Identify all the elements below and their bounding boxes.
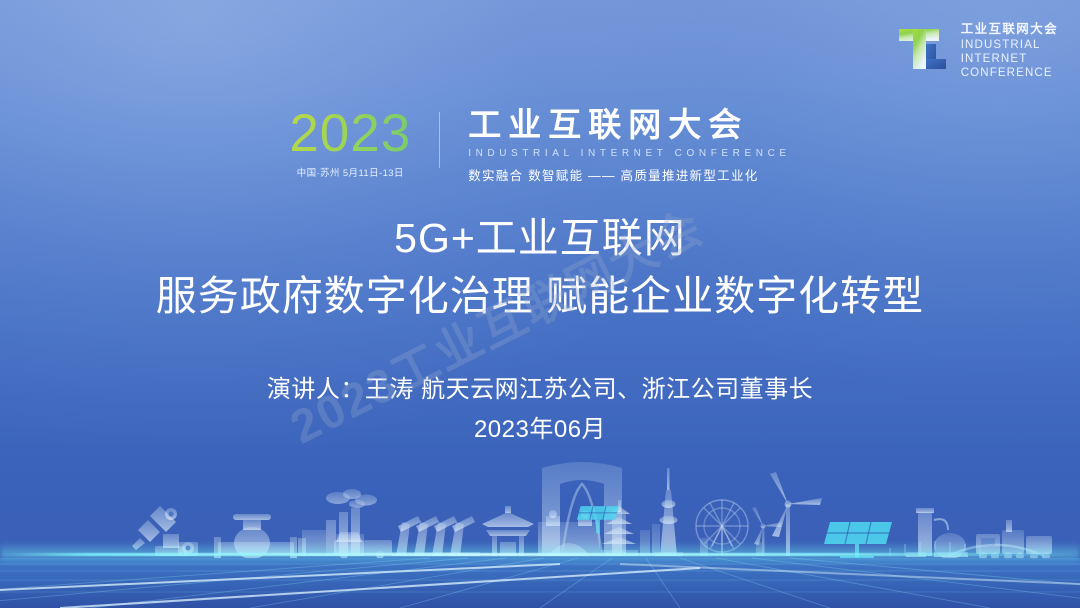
brand-name-en-line1: INDUSTRIAL xyxy=(961,40,1058,52)
wind-turbine-icon xyxy=(752,472,822,556)
conference-brand-logo: 工业互联网大会 INDUSTRIAL INTERNET CONFERENCE xyxy=(894,22,1058,80)
conference-year: 2023 xyxy=(289,108,411,159)
robot-arm-icon xyxy=(132,506,198,556)
speaker-block: 演讲人：王涛 航天云网江苏公司、浙江公司董事长 2023年06月 xyxy=(0,372,1080,448)
slide-headline: 5G+工业互联网 服务政府数字化治理 赋能企业数字化转型 xyxy=(0,212,1080,323)
speaker-presenter: 演讲人：王涛 航天云网江苏公司、浙江公司董事长 xyxy=(0,372,1080,408)
brand-name-cn: 工业互联网大会 xyxy=(961,23,1058,36)
smoke-cloud-icon xyxy=(326,489,377,508)
headline-line-2: 服务政府数字化治理 赋能企业数字化转型 xyxy=(0,270,1080,322)
oil-pumpjack-icon xyxy=(392,516,480,556)
conference-slogan: 数实融合 数智赋能 —— 高质量推进新型工业化 xyxy=(468,165,790,184)
conference-title-en: INDUSTRIAL INTERNET CONFERENCE xyxy=(468,148,790,159)
it-monogram-logo-icon xyxy=(894,22,952,80)
conference-lockup: 2023 中国·苏州 5月11日-13日 工业互联网大会 INDUSTRIAL … xyxy=(0,108,1080,184)
lockup-divider xyxy=(439,112,440,168)
skyline-illustration xyxy=(0,438,1080,608)
city-industry-skyline-scene xyxy=(0,438,1080,608)
presentation-slide: 工业互联网大会 INDUSTRIAL INTERNET CONFERENCE 2… xyxy=(0,0,1080,608)
conference-title-cn: 工业互联网大会 xyxy=(468,108,790,143)
conference-year-block: 2023 中国·苏州 5月11日-13日 xyxy=(289,108,425,184)
brand-name-en-line2: INTERNET xyxy=(961,54,1058,66)
conference-title-block: 工业互联网大会 INDUSTRIAL INTERNET CONFERENCE 数… xyxy=(454,108,790,184)
headline-line-1: 5G+工业互联网 xyxy=(0,212,1080,264)
brand-text-block: 工业互联网大会 INDUSTRIAL INTERNET CONFERENCE xyxy=(961,23,1058,79)
conference-location-date: 中国·苏州 5月11日-13日 xyxy=(297,165,404,179)
brand-name-en-line3: CONFERENCE xyxy=(961,68,1058,80)
industrial-valve-icon xyxy=(214,514,297,559)
chinese-pavilion-icon xyxy=(482,506,534,556)
